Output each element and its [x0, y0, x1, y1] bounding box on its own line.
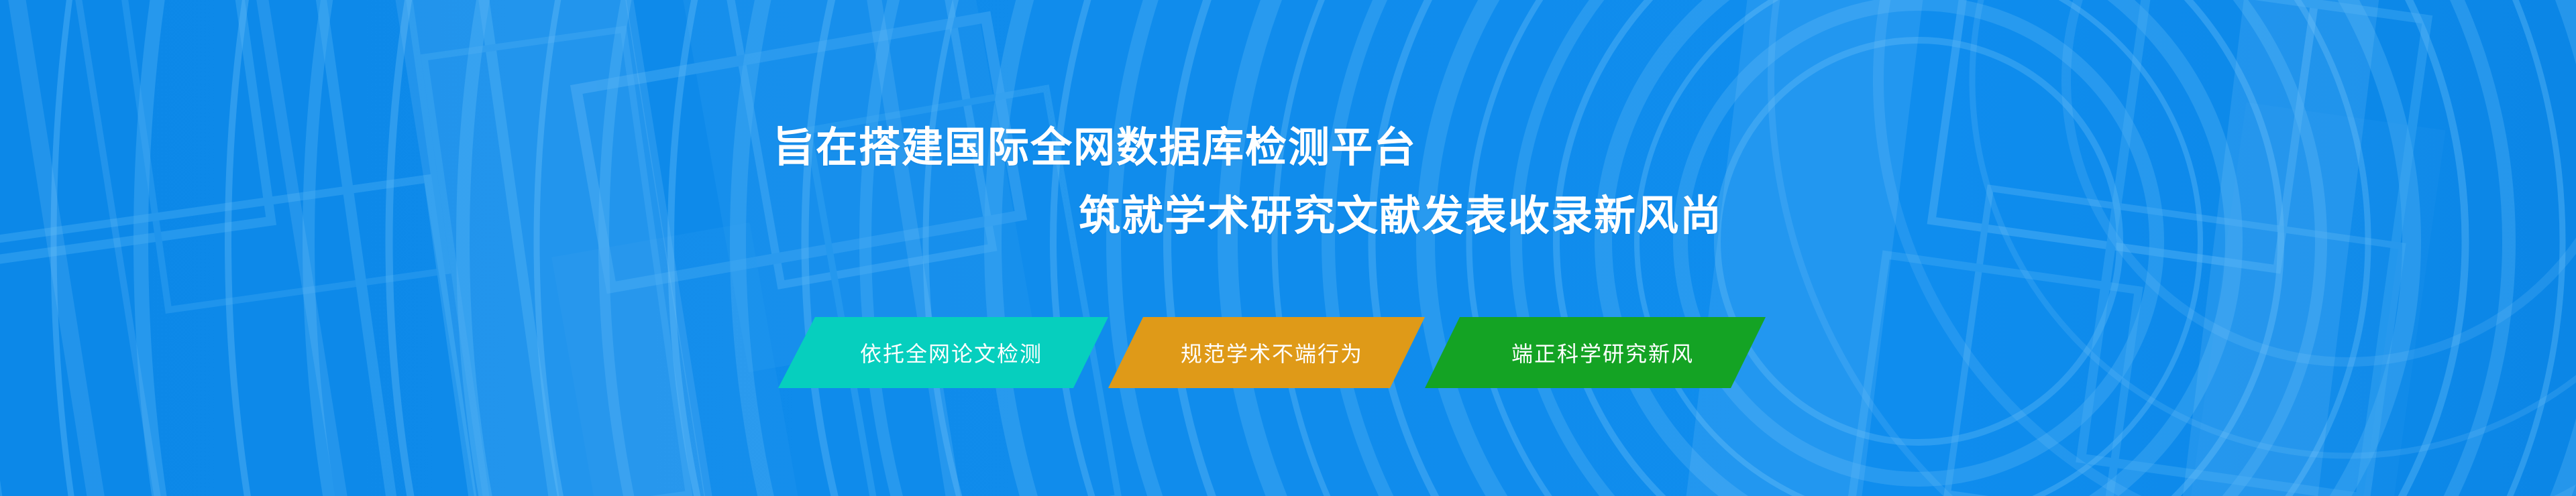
feature-tag-plagiarism-detection[interactable]: 依托全网论文检测 [778, 317, 1108, 388]
feature-tag-ribbon: 依托全网论文检测 规范学术不端行为 端正科学研究新风 [771, 317, 1805, 388]
headline-line-2: 筑就学术研究文献发表收录新风尚 [1079, 196, 1723, 237]
feature-tag-label: 依托全网论文检测 [860, 337, 1042, 368]
promo-banner: 旨在搭建国际全网数据库检测平台 筑就学术研究文献发表收录新风尚 依托全网论文检测… [0, 0, 2576, 496]
feature-tag-label: 端正科学研究新风 [1511, 337, 1694, 368]
background-decoration [0, 0, 2576, 496]
feature-tag-research-integrity[interactable]: 端正科学研究新风 [1418, 317, 1774, 388]
feature-tag-label: 规范学术不端行为 [1181, 337, 1363, 368]
feature-tag-misconduct-regulation[interactable]: 规范学术不端行为 [1102, 317, 1425, 388]
headline-line-1: 旨在搭建国际全网数据库检测平台 [773, 127, 1417, 169]
